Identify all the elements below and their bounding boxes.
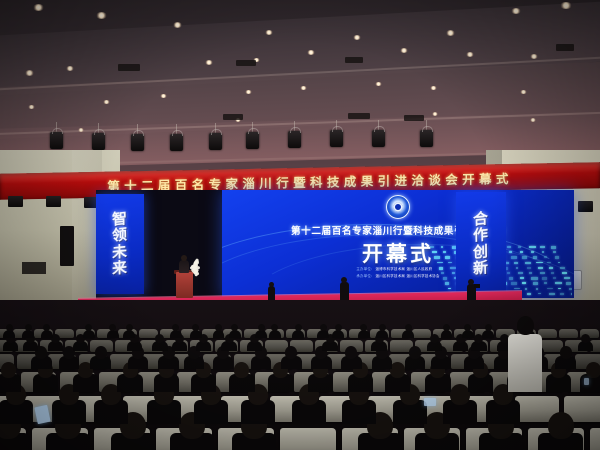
hanging-stage-light: [209, 133, 222, 150]
led-screen-right: 合 作 创 新: [456, 192, 506, 296]
data-chip: [538, 293, 541, 295]
ceiling-downlight: [446, 30, 455, 36]
data-chip: [529, 272, 532, 274]
ceiling-downlight: [96, 12, 107, 19]
data-chip: [540, 272, 545, 274]
ceiling-downlight: [265, 30, 273, 35]
data-chip: [531, 251, 534, 253]
par-can-light: [578, 201, 593, 212]
hanging-stage-light: [92, 133, 105, 150]
standing-attendee-white-shirt: [508, 334, 542, 392]
data-chip: [533, 282, 538, 285]
ceiling-vent: [348, 113, 370, 119]
data-chip: [525, 262, 531, 264]
led-screen-main: 第十二届百名专家淄川行暨科技成果引进洽谈会 开幕式 主办单位: 淄博市科学技术局…: [222, 190, 574, 298]
standing-attendee-head: [517, 316, 534, 335]
attendee-head: [586, 362, 600, 378]
ceiling-vent: [223, 114, 243, 120]
speaker-podium: [176, 272, 193, 298]
attendee-head: [25, 324, 32, 331]
data-chip: [558, 262, 560, 264]
attendee-head: [258, 324, 265, 331]
ceiling-vent: [404, 115, 424, 121]
data-chip: [551, 246, 556, 249]
podium-flower-arrangement: [188, 258, 204, 274]
attendee-head: [126, 324, 133, 331]
ceiling-downlight: [205, 60, 213, 65]
attendee-head: [234, 362, 249, 378]
organizer-key: 承办单位:: [356, 273, 372, 278]
presenter-head: [181, 255, 187, 261]
attendee-head: [390, 362, 405, 378]
data-chip: [448, 262, 453, 264]
data-chip: [527, 293, 531, 295]
data-chip: [509, 251, 512, 253]
audience-area: 2123: [0, 300, 600, 450]
attendee-head: [1, 362, 16, 378]
ceiling-downlight: [173, 22, 182, 28]
audience-seat: [280, 428, 336, 450]
ceiling-downlight: [400, 48, 408, 53]
data-chip: [555, 282, 562, 284]
attendee-head: [409, 346, 421, 359]
data-chip: [511, 282, 516, 284]
data-chip: [547, 288, 554, 290]
video-camera-icon: [474, 284, 480, 288]
data-chip: [560, 293, 564, 295]
audience-seat: [412, 329, 431, 338]
ceiling-downlight: [78, 128, 84, 132]
data-chip: [441, 246, 443, 248]
data-chip: [527, 267, 531, 269]
attendee-head: [335, 324, 342, 331]
data-chip: [553, 251, 556, 253]
ceiling-vent: [118, 64, 140, 71]
attendee-head: [95, 346, 107, 359]
data-chip: [520, 277, 524, 279]
attendee-head: [548, 412, 574, 439]
audience-seat: [559, 329, 578, 338]
data-chip: [551, 272, 554, 274]
ceiling-downlight: [432, 112, 438, 116]
data-chip: [522, 282, 526, 284]
data-chip: [544, 256, 547, 258]
stage-person-b: [340, 282, 349, 300]
ceiling-vent: [556, 44, 574, 51]
right-screen-calligraphy: 合 作 创 新: [456, 192, 506, 296]
ceiling-downlight: [353, 35, 361, 40]
ceiling-downlight: [66, 66, 74, 71]
data-chip: [542, 277, 546, 279]
ceiling-downlight: [530, 54, 538, 59]
data-chip: [564, 277, 570, 279]
data-chip: [536, 288, 539, 291]
data-chip: [509, 277, 513, 280]
attendee-phone-screen: [584, 378, 589, 385]
left-screen-calligraphy: 智 领 未 来: [96, 194, 144, 294]
data-chip: [443, 277, 447, 280]
main-screen-title: 第十二届百名专家淄川行暨科技成果引进洽谈会: [222, 223, 574, 237]
event-emblem-logo: [386, 195, 410, 219]
data-chip: [542, 251, 544, 252]
data-chip: [520, 251, 523, 253]
audience-seat: [590, 428, 600, 450]
par-can-light: [46, 196, 61, 207]
data-chip: [555, 256, 559, 259]
data-chip: [533, 256, 537, 258]
pa-speaker-left: [60, 226, 74, 266]
data-chip: [445, 282, 449, 285]
attendee-head: [581, 334, 590, 343]
data-chip: [544, 282, 547, 284]
led-screen-left: 智 领 未 来: [96, 194, 144, 294]
data-chip: [562, 272, 567, 274]
data-chip: [566, 282, 570, 284]
hanging-stage-light: [50, 132, 63, 149]
attendee-head: [379, 324, 386, 331]
attendee-head: [6, 324, 13, 331]
data-chip: [516, 267, 518, 269]
data-chip: [507, 246, 511, 248]
right-char-4: 新: [473, 260, 488, 277]
organizer-key: 主办单位:: [356, 266, 372, 271]
data-chip: [518, 246, 521, 248]
ceiling-vent: [236, 60, 256, 66]
hanging-stage-light: [372, 130, 385, 147]
data-chip: [445, 256, 450, 259]
hanging-stage-light: [246, 132, 259, 149]
ceiling-downlight: [25, 70, 34, 76]
attendee-head: [405, 324, 412, 331]
data-chip: [439, 267, 443, 270]
organizer-row: 主办单位: 淄博市科学技术局 淄川区人民政府: [356, 266, 432, 271]
data-chip: [441, 272, 444, 274]
left-char-4: 来: [112, 260, 127, 277]
ceiling-downlight: [466, 52, 474, 57]
data-chip: [507, 272, 510, 274]
par-can-light: [8, 196, 23, 207]
data-chip: [531, 277, 538, 280]
data-chip: [549, 293, 555, 295]
ceiling-vent: [345, 57, 363, 63]
data-chip: [547, 262, 552, 263]
data-chip: [529, 246, 536, 248]
stage-person-b-head: [341, 277, 347, 283]
ceiling-downlight: [33, 4, 44, 11]
auditorium-photo: 第十二届百名专家淄川行暨科技成果引进洽谈会开幕式 智 领 未 来 第十二届百名专…: [0, 0, 600, 450]
data-chip: [452, 272, 455, 274]
data-chip: [448, 288, 452, 290]
hanging-stage-light: [288, 131, 301, 148]
hanging-stage-light: [330, 130, 343, 147]
data-chip: [553, 277, 555, 279]
attendee-head: [285, 346, 297, 359]
data-chip: [432, 251, 437, 253]
data-chip: [511, 256, 517, 259]
wall-left-panel: [22, 262, 46, 274]
attendee-head: [320, 324, 327, 331]
stage-person-a-head: [269, 282, 274, 287]
ceiling: [0, 0, 600, 172]
data-chip: [569, 288, 572, 290]
data-chip: [430, 246, 434, 248]
data-chip: [514, 262, 519, 265]
hanging-stage-light: [420, 130, 433, 147]
stage-backdrop: 智 领 未 来 第十二届百名专家淄川行暨科技成果引进洽谈会 开幕式 主办单位: …: [96, 190, 508, 302]
attendee-head: [295, 324, 302, 331]
data-chip: [549, 267, 553, 269]
data-chip: [437, 262, 443, 264]
attendee-head: [560, 346, 572, 359]
data-chip: [525, 288, 527, 290]
data-chip: [522, 256, 527, 258]
data-chip: [558, 288, 561, 290]
data-chip: [540, 246, 545, 248]
hanging-stage-light: [131, 134, 144, 151]
ceiling-downlight: [307, 50, 315, 55]
data-chip: [434, 256, 440, 258]
stage-person-a: [268, 286, 275, 300]
data-chip: [514, 288, 521, 289]
data-chip: [560, 267, 565, 269]
ceiling-downlight: [530, 118, 536, 122]
data-chip: [571, 293, 572, 295]
attendee-head: [345, 346, 357, 359]
attendee-phone-screen: [424, 398, 436, 406]
attendee-head: [485, 324, 492, 331]
hanging-stage-light: [170, 134, 183, 151]
data-chip: [536, 262, 543, 264]
data-chip: [518, 272, 523, 274]
data-chip: [538, 267, 543, 269]
data-chip: [443, 251, 446, 253]
